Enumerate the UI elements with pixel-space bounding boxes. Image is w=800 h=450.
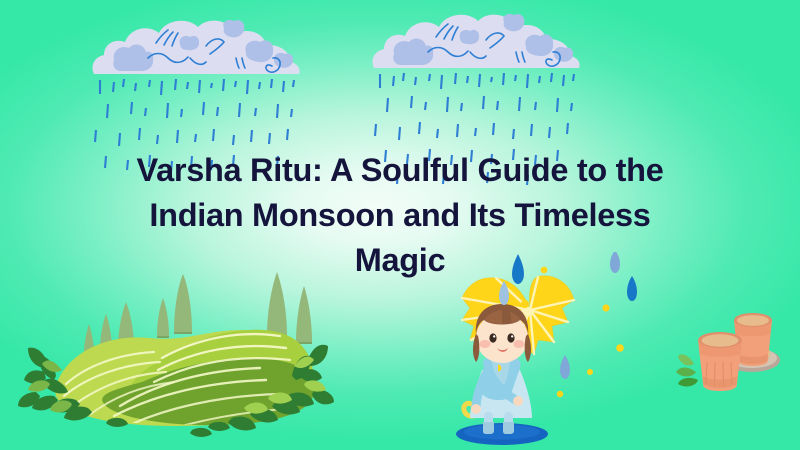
rain-cloud-left-icon <box>88 16 304 82</box>
title-line-3: Magic <box>0 238 800 283</box>
banner-title: Varsha Ritu: A Soulful Guide to the Indi… <box>0 148 800 283</box>
chai-kulhads-illustration <box>676 296 794 396</box>
raindrop-icon <box>560 355 570 379</box>
kulhad-cup-front <box>698 332 742 391</box>
rain-cloud-right-icon <box>368 10 584 76</box>
tea-leaf-sprig <box>676 354 698 386</box>
title-line-1: Varsha Ritu: A Soulful Guide to the <box>0 148 800 193</box>
tea-plantation-hills-illustration <box>14 268 340 444</box>
title-line-2: Indian Monsoon and Its Timeless <box>0 193 800 238</box>
raindrop-icon <box>499 281 509 305</box>
monsoon-banner: Varsha Ritu: A Soulful Guide to the Indi… <box>0 0 800 450</box>
yellow-dot-icon <box>498 267 624 398</box>
